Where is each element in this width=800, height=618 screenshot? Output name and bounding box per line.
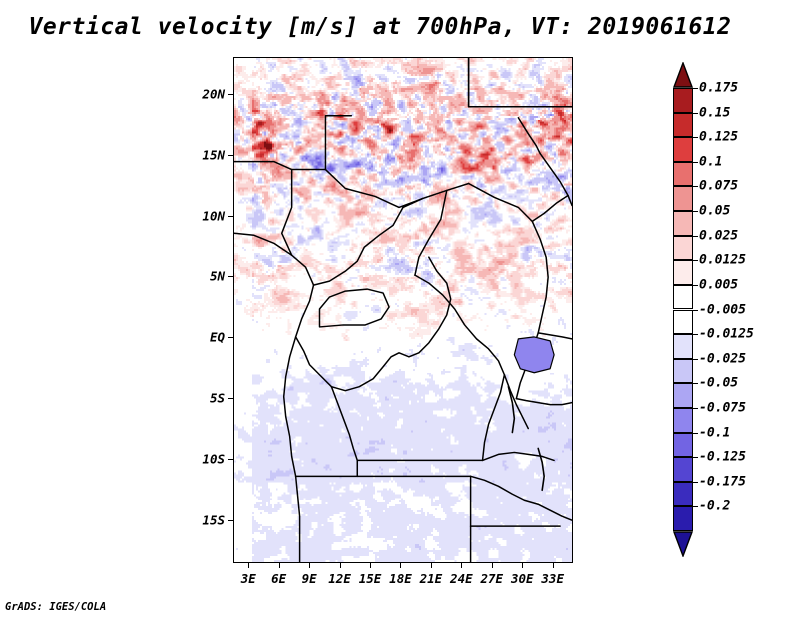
country-borders-overlay bbox=[234, 58, 572, 562]
y-tick bbox=[228, 398, 233, 399]
x-axis-label: 6E bbox=[271, 571, 286, 586]
x-tick bbox=[309, 563, 310, 568]
y-axis-label: 10N bbox=[181, 208, 225, 223]
colorbar-tick bbox=[693, 285, 698, 286]
colorbar-label: -0.2 bbox=[699, 499, 730, 514]
colorbar-segment[interactable] bbox=[673, 359, 693, 384]
colorbar-tick bbox=[693, 236, 698, 237]
colorbar-tick bbox=[693, 334, 698, 335]
colorbar-label: 0.1 bbox=[699, 154, 722, 169]
x-tick bbox=[522, 563, 523, 568]
colorbar-segment[interactable] bbox=[673, 88, 693, 113]
colorbar-tick bbox=[693, 408, 698, 409]
colorbar-label: -0.005 bbox=[699, 302, 746, 317]
colorbar-segment[interactable] bbox=[673, 457, 693, 482]
colorbar-tick bbox=[693, 186, 698, 187]
x-axis-label: 3E bbox=[241, 571, 256, 586]
colorbar-segment[interactable] bbox=[673, 236, 693, 261]
colorbar-tick bbox=[693, 211, 698, 212]
colorbar-segment[interactable] bbox=[673, 482, 693, 507]
colorbar-tick bbox=[693, 88, 698, 89]
colorbar-label: 0.0125 bbox=[699, 253, 746, 268]
colorbar-label: 0.075 bbox=[699, 179, 738, 194]
x-tick bbox=[492, 563, 493, 568]
colorbar-segment[interactable] bbox=[673, 186, 693, 211]
colorbar-label: -0.025 bbox=[699, 351, 746, 366]
grads-plot-canvas: Vertical velocity [m/s] at 700hPa, VT: 2… bbox=[0, 0, 800, 618]
colorbar-segment[interactable] bbox=[673, 506, 693, 531]
colorbar-label: 0.15 bbox=[699, 105, 730, 120]
colorbar-segment[interactable] bbox=[673, 285, 693, 310]
x-axis-label: 27E bbox=[481, 571, 504, 586]
colorbar-segment[interactable] bbox=[673, 310, 693, 335]
colorbar-label: -0.05 bbox=[699, 376, 738, 391]
colorbar[interactable]: 0.1750.150.1250.10.0750.050.0250.01250.0… bbox=[673, 62, 693, 557]
colorbar-tick bbox=[693, 113, 698, 114]
colorbar-tick bbox=[693, 383, 698, 384]
x-tick bbox=[279, 563, 280, 568]
colorbar-segment[interactable] bbox=[673, 383, 693, 408]
y-axis-label: 20N bbox=[181, 86, 225, 101]
map-plot-area[interactable] bbox=[233, 57, 573, 563]
colorbar-label: 0.175 bbox=[699, 81, 738, 96]
colorbar-segment[interactable] bbox=[673, 211, 693, 236]
y-tick bbox=[228, 459, 233, 460]
x-axis-label: 30E bbox=[511, 571, 534, 586]
y-axis-label: 15N bbox=[181, 147, 225, 162]
colorbar-tick bbox=[693, 359, 698, 360]
x-tick bbox=[553, 563, 554, 568]
colorbar-tick bbox=[693, 162, 698, 163]
x-tick bbox=[370, 563, 371, 568]
x-axis-label: 21E bbox=[420, 571, 443, 586]
colorbar-tick bbox=[693, 433, 698, 434]
triangle-down-icon bbox=[673, 531, 693, 557]
x-tick bbox=[400, 563, 401, 568]
y-axis-label: 5N bbox=[181, 269, 225, 284]
colorbar-tick bbox=[693, 137, 698, 138]
triangle-up-icon bbox=[673, 62, 693, 88]
x-axis-label: 24E bbox=[450, 571, 473, 586]
colorbar-segment[interactable] bbox=[673, 113, 693, 138]
page-title: Vertical velocity [m/s] at 700hPa, VT: 2… bbox=[0, 14, 760, 40]
colorbar-segment[interactable] bbox=[673, 334, 693, 359]
x-axis-label: 12E bbox=[328, 571, 351, 586]
grads-credit: GrADS: IGES/COLA bbox=[5, 601, 106, 613]
x-tick bbox=[248, 563, 249, 568]
colorbar-label: -0.0125 bbox=[699, 327, 754, 342]
colorbar-tick bbox=[693, 506, 698, 507]
y-tick bbox=[228, 337, 233, 338]
colorbar-label: -0.075 bbox=[699, 400, 746, 415]
x-axis-label: 9E bbox=[302, 571, 317, 586]
colorbar-label: 0.025 bbox=[699, 228, 738, 243]
colorbar-segment[interactable] bbox=[673, 162, 693, 187]
colorbar-segment[interactable] bbox=[673, 433, 693, 458]
colorbar-tick bbox=[693, 260, 698, 261]
colorbar-segment[interactable] bbox=[673, 137, 693, 162]
colorbar-segment[interactable] bbox=[673, 260, 693, 285]
y-tick bbox=[228, 216, 233, 217]
colorbar-tick bbox=[693, 482, 698, 483]
colorbar-tick bbox=[693, 310, 698, 311]
colorbar-label: -0.125 bbox=[699, 450, 746, 465]
x-tick bbox=[431, 563, 432, 568]
x-axis-label: 18E bbox=[389, 571, 412, 586]
y-axis-label: 5S bbox=[181, 391, 225, 406]
colorbar-label: 0.125 bbox=[699, 130, 738, 145]
colorbar-label: 0.005 bbox=[699, 277, 738, 292]
y-tick bbox=[228, 94, 233, 95]
colorbar-tick bbox=[693, 457, 698, 458]
colorbar-label: -0.1 bbox=[699, 425, 730, 440]
y-axis-label: EQ bbox=[181, 330, 225, 345]
colorbar-label: -0.175 bbox=[699, 474, 746, 489]
x-tick bbox=[461, 563, 462, 568]
y-tick bbox=[228, 155, 233, 156]
x-axis-label: 33E bbox=[541, 571, 564, 586]
x-axis-label: 15E bbox=[359, 571, 382, 586]
y-axis-label: 10S bbox=[181, 452, 225, 467]
y-tick bbox=[228, 520, 233, 521]
y-axis-label: 15S bbox=[181, 513, 225, 528]
y-tick bbox=[228, 276, 233, 277]
colorbar-label: 0.05 bbox=[699, 204, 730, 219]
colorbar-segment[interactable] bbox=[673, 408, 693, 433]
x-tick bbox=[340, 563, 341, 568]
